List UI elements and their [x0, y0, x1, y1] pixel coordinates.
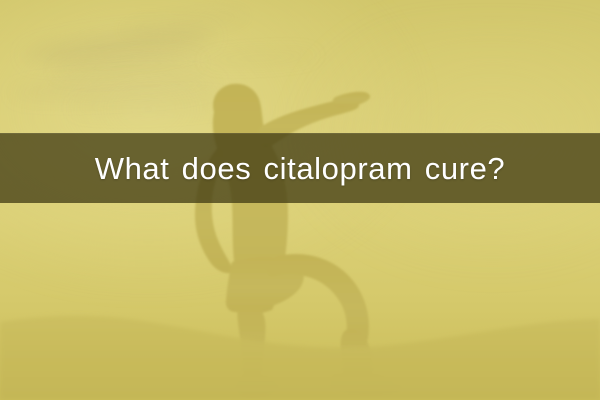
caption-text: What does citalopram cure? — [95, 153, 506, 184]
caption-band: What does citalopram cure? — [0, 133, 600, 203]
dune-ridge — [0, 270, 600, 400]
image-canvas: What does citalopram cure? — [0, 0, 600, 400]
